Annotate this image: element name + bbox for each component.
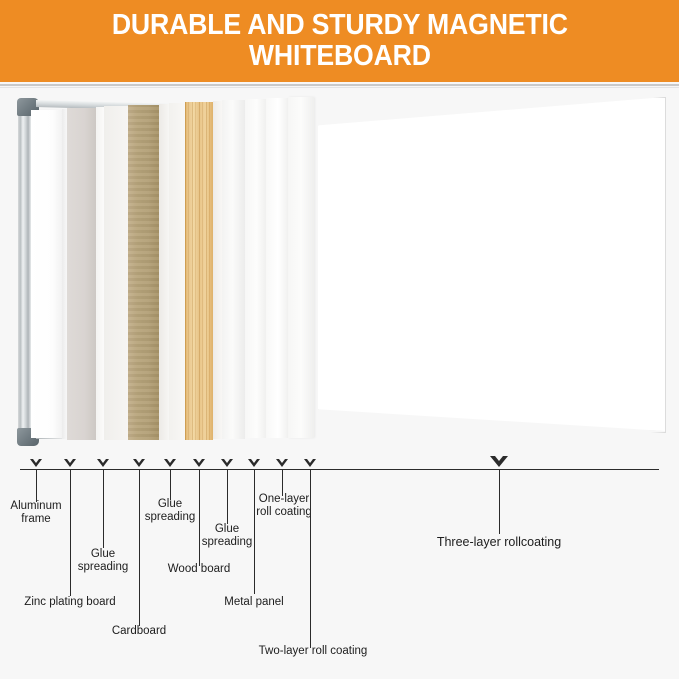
layer-metal-panel <box>222 100 245 439</box>
layer-one-layer-roll-coating <box>245 99 266 438</box>
callout-label-aluminum-frame: Aluminum frame <box>10 500 61 526</box>
layer-glue-spreading-2 <box>96 107 104 440</box>
callout-chevron-icon-metal-panel <box>248 459 260 467</box>
callout-chevron-icon-aluminum-frame <box>30 459 42 467</box>
callout-chevron-notch <box>167 459 173 463</box>
callout-label-glue-spreading-1: Glue spreading <box>78 548 129 574</box>
layer-glue-spreading-3 <box>159 104 169 440</box>
callout-chevron-icon-wood-board <box>193 459 205 467</box>
layer-glue-spreading-4 <box>213 101 222 439</box>
callout-label-glue-spreading-3: Glue spreading <box>202 523 253 549</box>
callout-label-glue-spreading-2: Glue spreading <box>145 498 196 524</box>
callout-label-three-layer-rollcoating: Three-layer rollcoating <box>437 535 561 549</box>
header-title-line2: WHITEBOARD <box>249 41 431 72</box>
callout-leader-line-cardboard <box>139 470 140 626</box>
callout-label-zinc-plating-board: Zinc plating board <box>24 596 115 609</box>
callout-chevron-notch <box>67 459 73 463</box>
header-title-line1: DURABLE AND STURDY MAGNETIC <box>111 10 567 41</box>
callout-leader-line-two-layer-roll-coating <box>310 470 311 648</box>
callout-axis-line <box>20 469 659 470</box>
callout-chevron-notch <box>279 459 285 463</box>
callout-leader-line-zinc-plating-board <box>70 470 71 596</box>
callout-leader-line-metal-panel <box>254 470 255 594</box>
header-divider <box>0 84 679 86</box>
callout-chevron-icon-glue-spreading-3 <box>221 459 233 467</box>
layer-two-layer-roll-coating <box>266 98 288 438</box>
callout-chevron-icon-glue-spreading-2 <box>164 459 176 467</box>
callout-leader-line-glue-spreading-2 <box>170 470 171 500</box>
callout-leader-line-glue-spreading-1 <box>103 470 104 548</box>
callout-chevron-icon-cardboard <box>133 459 145 467</box>
callout-chevron-notch <box>307 459 313 463</box>
callout-chevron-icon-three-layer-rollcoating <box>490 456 508 467</box>
callout-label-cardboard: Cardboard <box>112 625 166 638</box>
callout-chevron-icon-zinc-plating-board <box>64 459 76 467</box>
callout-label-one-layer-roll-coating: One-layer roll coating <box>256 493 312 519</box>
layer-zinc-plating-board <box>31 110 62 438</box>
callout-chevron-notch <box>100 459 106 463</box>
callout-chevron-notch <box>251 459 257 463</box>
layer-filler-panel-1 <box>104 106 128 440</box>
whiteboard-writing-surface <box>318 97 665 431</box>
layer-three-layer-rollcoating-edge <box>288 97 314 438</box>
callout-leader-line-wood-board <box>199 470 200 566</box>
callout-leader-line-three-layer-rollcoating <box>499 470 500 534</box>
product-illustration <box>0 88 679 450</box>
callout-leader-line-aluminum-frame <box>36 470 37 502</box>
callout-chevron-notch <box>224 459 230 463</box>
callout-leader-line-glue-spreading-3 <box>227 470 228 524</box>
layer-aluminum-frame <box>18 104 31 444</box>
layer-wood-board <box>185 102 213 440</box>
callout-chevron-notch <box>196 459 202 463</box>
callout-label-two-layer-roll-coating: Two-layer roll coating <box>259 645 368 658</box>
callout-chevron-icon-two-layer-roll-coating <box>304 459 316 467</box>
callout-chevron-notch <box>33 459 39 463</box>
callout-chevron-icon-one-layer-roll-coating <box>276 459 288 467</box>
header-banner: DURABLE AND STURDY MAGNETIC WHITEBOARD <box>0 0 679 82</box>
callout-label-metal-panel: Metal panel <box>224 596 283 609</box>
layer-cardboard <box>128 105 159 440</box>
callout-chevron-notch <box>495 456 503 461</box>
layer-filler-panel-2 <box>169 103 185 440</box>
layer-backing-board <box>67 108 96 440</box>
callout-chevron-notch <box>136 459 142 463</box>
callout-label-wood-board: Wood board <box>168 563 230 576</box>
callout-chevron-icon-glue-spreading-1 <box>97 459 109 467</box>
